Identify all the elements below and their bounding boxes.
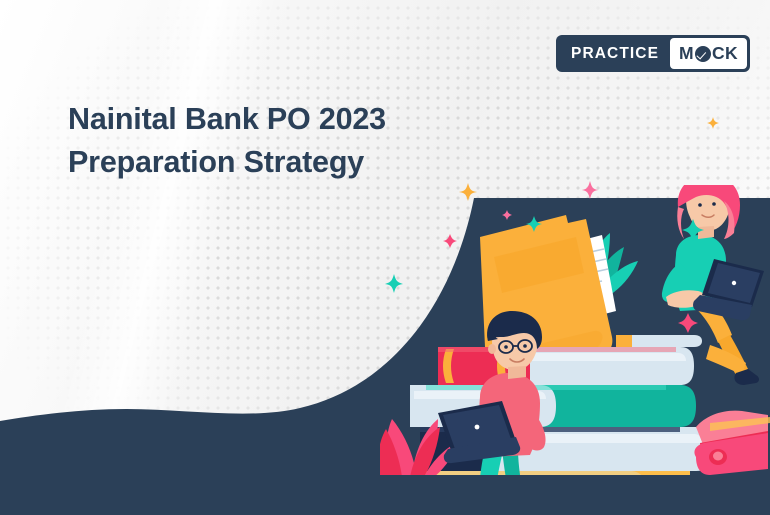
students-illustration — [380, 185, 770, 475]
page-title: Nainital Bank PO 2023 Preparation Strate… — [68, 98, 488, 184]
promotional-banner: Nainital Bank PO 2023 Preparation Strate… — [0, 0, 770, 515]
check-circle-icon — [695, 46, 711, 62]
practicemock-logo[interactable]: PRACTICE MCK — [556, 35, 750, 72]
logo-word-practice: PRACTICE — [559, 45, 670, 63]
logo-mock-m: M — [679, 43, 694, 64]
logo-word-mock: MCK — [670, 38, 747, 69]
title-line-1: Nainital Bank PO 2023 — [68, 98, 488, 141]
pink-stapler-icon — [694, 411, 770, 475]
small-book-icon — [616, 335, 702, 347]
title-line-2: Preparation Strategy — [68, 141, 488, 184]
logo-mock-ck: CK — [712, 43, 738, 64]
